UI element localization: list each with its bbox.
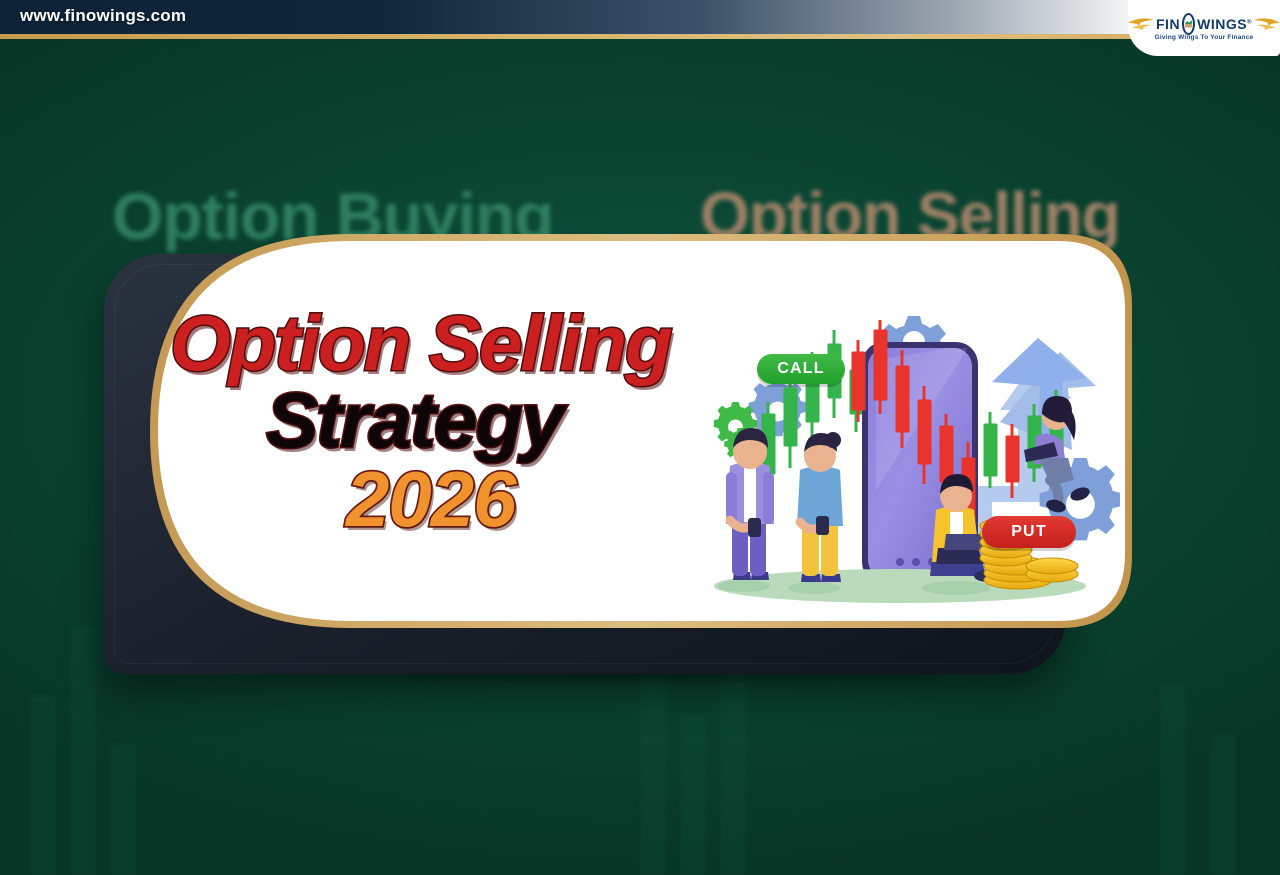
brand-logo[interactable]: FIN WINGS® [1128, 0, 1280, 56]
person-woman-with-phone [788, 432, 843, 594]
wing-left-icon [1128, 17, 1154, 31]
logo-tagline: Giving Wings To Your Finance [1128, 34, 1280, 41]
headline-block: Option Selling Strategy 2026 [170, 306, 790, 540]
wing-right-icon [1254, 17, 1280, 31]
headline-line-1: Option Selling [170, 306, 790, 381]
registered-mark: ® [1247, 19, 1252, 25]
logo-text-wings: WINGS® [1197, 16, 1252, 32]
website-url[interactable]: www.finowings.com [20, 6, 186, 26]
logo-text-fin: FIN [1156, 16, 1180, 32]
put-badge[interactable]: PUT [982, 516, 1076, 548]
gold-divider-line [0, 34, 1280, 39]
top-bar: www.finowings.com [0, 0, 1280, 34]
poster-stage: Option Buying Option Selling Option Sell… [0, 0, 1280, 875]
headline-line-3: 2026 [346, 460, 790, 540]
logo-mark: FIN WINGS® [1128, 3, 1280, 33]
headline-line-2: Strategy [266, 381, 790, 461]
logo-globe-icon [1182, 13, 1195, 35]
